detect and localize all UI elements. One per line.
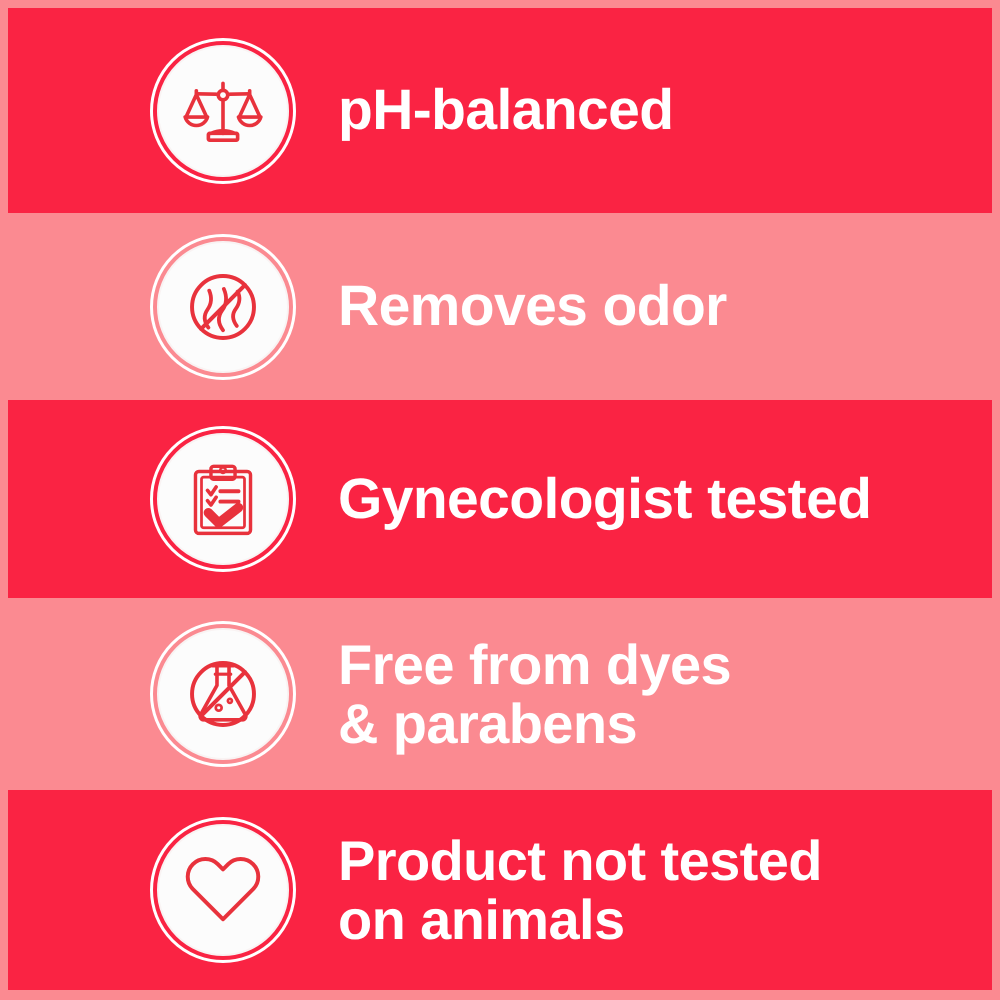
benefit-label-removes-odor: Removes odor bbox=[338, 277, 727, 335]
badge-removes-odor bbox=[150, 234, 296, 380]
benefit-label-gynecologist-tested: Gynecologist tested bbox=[338, 470, 871, 528]
benefit-row-removes-odor: Removes odor bbox=[8, 213, 992, 400]
benefit-label-not-tested-on-animals: Product not tested on animals bbox=[338, 831, 822, 950]
badge-ph-balanced bbox=[150, 38, 296, 184]
benefit-row-free-from-dyes-parabens: Free from dyes & parabens bbox=[8, 598, 992, 790]
balance-scales-icon bbox=[180, 68, 266, 154]
benefits-infographic: pH-balanced Removes odor bbox=[0, 0, 1000, 1000]
benefit-row-ph-balanced: pH-balanced bbox=[8, 8, 992, 213]
heart-icon bbox=[180, 847, 266, 933]
badge-not-tested-on-animals bbox=[150, 817, 296, 963]
badge-free-from-dyes-parabens bbox=[150, 621, 296, 767]
benefit-row-not-tested-on-animals: Product not tested on animals bbox=[8, 790, 992, 990]
benefit-row-gynecologist-tested: Gynecologist tested bbox=[8, 400, 992, 598]
benefit-label-ph-balanced: pH-balanced bbox=[338, 81, 673, 139]
clipboard-checklist-icon bbox=[180, 456, 266, 542]
no-odor-icon bbox=[180, 264, 266, 350]
badge-gynecologist-tested bbox=[150, 426, 296, 572]
benefit-label-free-from-dyes-parabens: Free from dyes & parabens bbox=[338, 635, 731, 754]
no-chemical-flask-icon bbox=[180, 651, 266, 737]
